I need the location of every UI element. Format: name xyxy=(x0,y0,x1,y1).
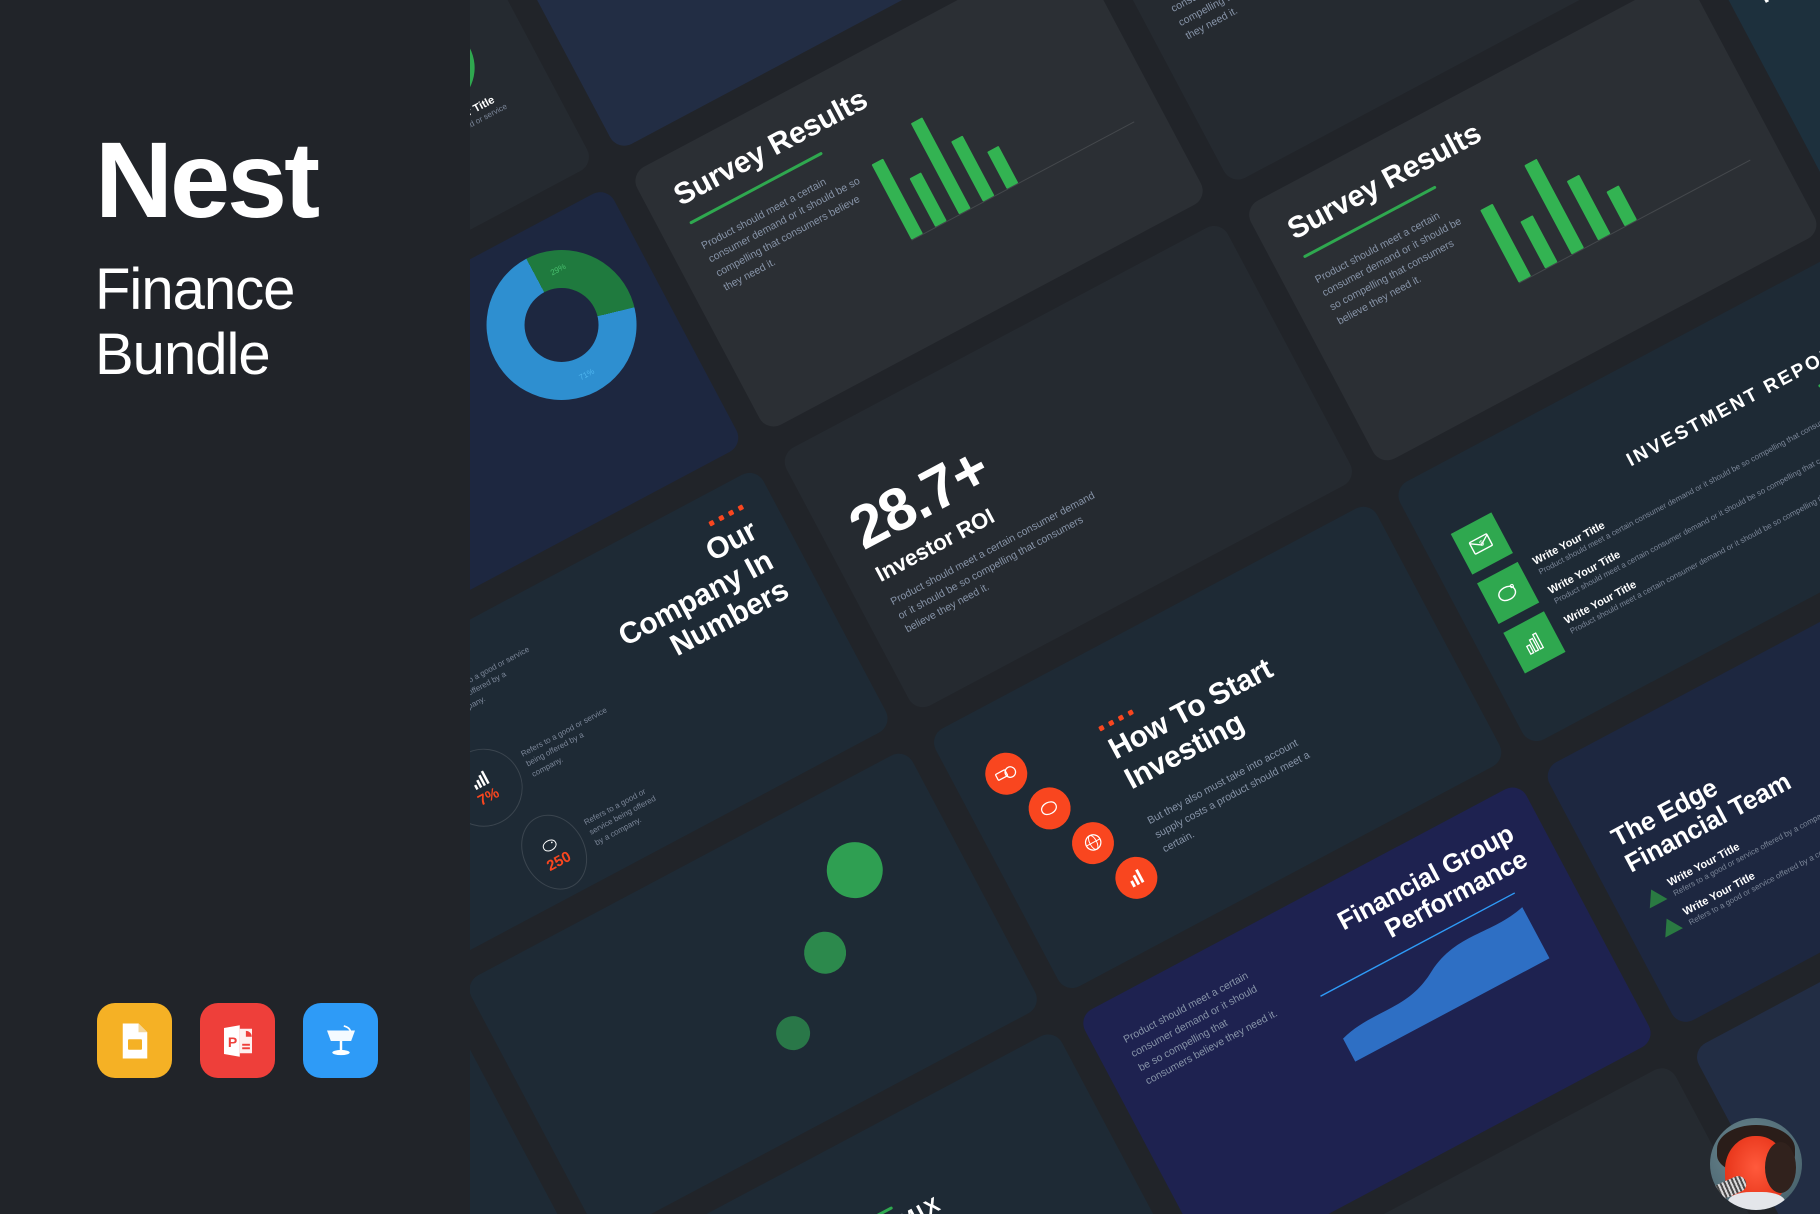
dot xyxy=(816,832,892,908)
keynote-icon xyxy=(320,1020,362,1062)
product-subtitle-line2: Bundle xyxy=(95,323,317,388)
globe-icon xyxy=(1077,827,1108,858)
bar xyxy=(1520,215,1557,268)
svg-text:P: P xyxy=(227,1033,236,1049)
google-slides-badge[interactable] xyxy=(97,1003,172,1078)
avatar-hair-side xyxy=(1765,1142,1796,1194)
envelope-money-icon: $ xyxy=(1464,526,1499,561)
powerpoint-badge[interactable]: P xyxy=(200,1003,275,1078)
slide-title: Our Company In Numbers xyxy=(577,514,794,693)
slice-label: 29% xyxy=(548,261,566,276)
slide-title: FINANCIAL GOALS xyxy=(1754,0,1820,10)
stat-desc: Refers to a good or service being offere… xyxy=(465,642,545,720)
dot xyxy=(796,924,853,981)
slide-grid: Survey Results Product should meet a cer… xyxy=(465,0,1820,1214)
icon-tile xyxy=(1503,611,1565,673)
product-name: Nest xyxy=(95,126,317,234)
title-rule xyxy=(850,1206,892,1214)
slide-body: Product should meet a certain consumer d… xyxy=(1121,964,1283,1090)
poster-canvas: Survey Results Product should meet a cer… xyxy=(0,0,1820,1214)
slide-mosaic: Survey Results Product should meet a cer… xyxy=(465,0,1820,1214)
icon-tile xyxy=(1477,562,1539,624)
slide-title-line1: ASSET MIX xyxy=(811,1189,949,1214)
donut-chart: 29% 71% xyxy=(465,224,662,427)
dot xyxy=(770,1010,816,1056)
icon-badge xyxy=(1020,780,1077,837)
bar-chart xyxy=(1464,59,1749,284)
app-format-badges: P xyxy=(97,1003,378,1078)
slide-body: Product should meet a certain consumer d… xyxy=(1161,0,1341,45)
brand-block: Nest Finance Bundle xyxy=(95,126,317,388)
triangle-icon xyxy=(1642,884,1667,908)
bar-chart-icon xyxy=(1120,862,1151,893)
icon-tile: $ xyxy=(1450,512,1512,574)
slide-title: INVESTMENT REPORT xyxy=(1623,336,1820,472)
powerpoint-icon: P xyxy=(217,1020,259,1062)
icon-badge xyxy=(1107,849,1164,906)
icon-badge xyxy=(977,745,1034,802)
slice-label: 71% xyxy=(577,367,595,382)
triangle-icon xyxy=(1657,914,1682,938)
avatar xyxy=(1710,1118,1802,1210)
bar-chart xyxy=(860,25,1134,240)
hero-panel: Nest Finance Bundle xyxy=(0,0,470,1214)
piggy-bank-icon xyxy=(1490,575,1525,610)
product-subtitle-line1: Finance xyxy=(95,258,317,323)
icon-badge xyxy=(1064,814,1121,871)
bar xyxy=(1479,203,1530,282)
bar-chart-icon xyxy=(1516,625,1551,660)
stat-desc: Refers to a good or service being offere… xyxy=(581,781,667,849)
stat-desc: Refers to a good or service being offere… xyxy=(518,702,623,780)
keynote-badge[interactable] xyxy=(303,1003,378,1078)
bar xyxy=(987,146,1018,189)
money-coin-icon xyxy=(990,758,1021,789)
bar xyxy=(871,158,922,239)
piggy-bank-icon xyxy=(1033,792,1064,823)
bar xyxy=(1606,185,1637,226)
google-slides-icon xyxy=(114,1020,156,1062)
avatar-body xyxy=(1728,1192,1785,1210)
bar xyxy=(910,117,970,214)
